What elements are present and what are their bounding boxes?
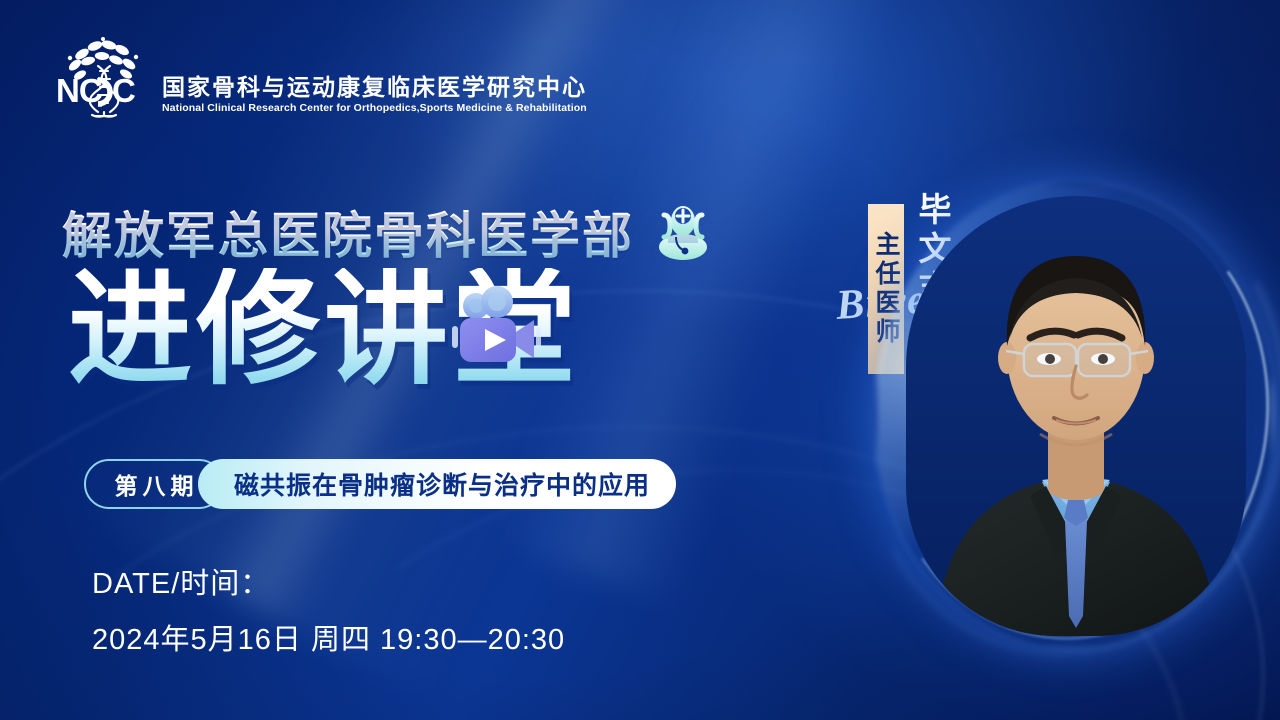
episode-subtitle: 第八期 磁共振在骨肿瘤诊断与治疗中的应用 <box>84 459 676 509</box>
logo-name-cn: 国家骨科与运动康复临床医学研究中心 <box>162 75 587 99</box>
doctor-stethoscope-icon <box>650 199 716 265</box>
video-camera-play-icon <box>440 282 544 378</box>
svg-text:NC: NC <box>56 72 102 109</box>
episode-topic: 磁共振在骨肿瘤诊断与治疗中的应用 <box>198 459 676 509</box>
ncrc-tree-dna-icon: NC C <box>56 36 152 118</box>
department-heading: 解放军总医院骨科医学部 <box>62 196 716 268</box>
ncrc-logo: NC C 国家骨科与运动康复临床医学研究中心 National Clinical… <box>56 36 587 118</box>
speaker-portrait-photo <box>906 196 1246 636</box>
department-heading-text: 解放军总医院骨科医学部 <box>62 196 634 268</box>
schedule-label: DATE/时间： <box>92 560 565 602</box>
logo-name-en: National Clinical Research Center for Or… <box>162 102 587 114</box>
speaker-portrait-frame <box>880 176 1272 656</box>
schedule-block: DATE/时间： 2024年5月16日 周四 19:30—20:30 <box>92 560 565 658</box>
schedule-value: 2024年5月16日 周四 19:30—20:30 <box>92 616 565 658</box>
svg-text:C: C <box>112 72 135 109</box>
logo-text-block: 国家骨科与运动康复临床医学研究中心 National Clinical Rese… <box>162 75 587 118</box>
webinar-poster: NC C 国家骨科与运动康复临床医学研究中心 National Clinical… <box>0 0 1280 720</box>
